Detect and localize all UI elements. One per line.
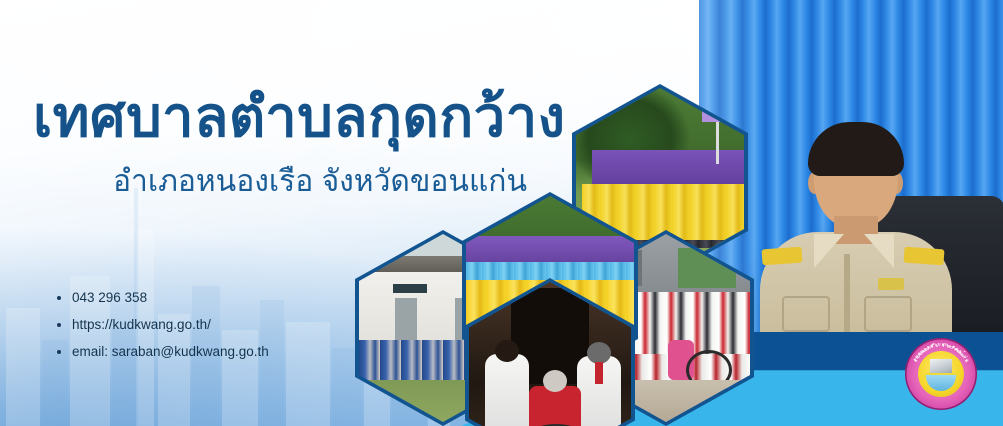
contact-item-website[interactable]: https://kudkwang.go.th/ (56, 317, 269, 332)
seal-core (918, 351, 964, 397)
bullet-dot-icon (57, 350, 61, 354)
contact-email-label[interactable]: email: saraban@kudkwang.go.th (72, 344, 269, 359)
page-subtitle: อำเภอหนองเรือ จังหวัดขอนแก่น (113, 158, 527, 205)
municipality-banner: เทศบาลตำบลกุดกว้าง อำเภอหนองเรือ จังหวัด… (0, 0, 1003, 426)
contact-item-phone: 043 296 358 (56, 290, 269, 305)
bullet-dot-icon (57, 323, 61, 327)
contact-item-email[interactable]: email: saraban@kudkwang.go.th (56, 344, 269, 359)
contact-list: 043 296 358 https://kudkwang.go.th/ emai… (56, 290, 269, 371)
seal-bowl-icon (926, 375, 956, 391)
bullet-dot-icon (57, 296, 61, 300)
contact-website-label[interactable]: https://kudkwang.go.th/ (72, 317, 211, 332)
contact-phone-label: 043 296 358 (72, 290, 147, 305)
municipality-seal: เทศบาลตำบลกุดกว้างอำเภอหนองเรือ จังหวัดข… (905, 338, 977, 410)
page-title: เทศบาลตำบลกุดกว้าง (33, 88, 566, 146)
